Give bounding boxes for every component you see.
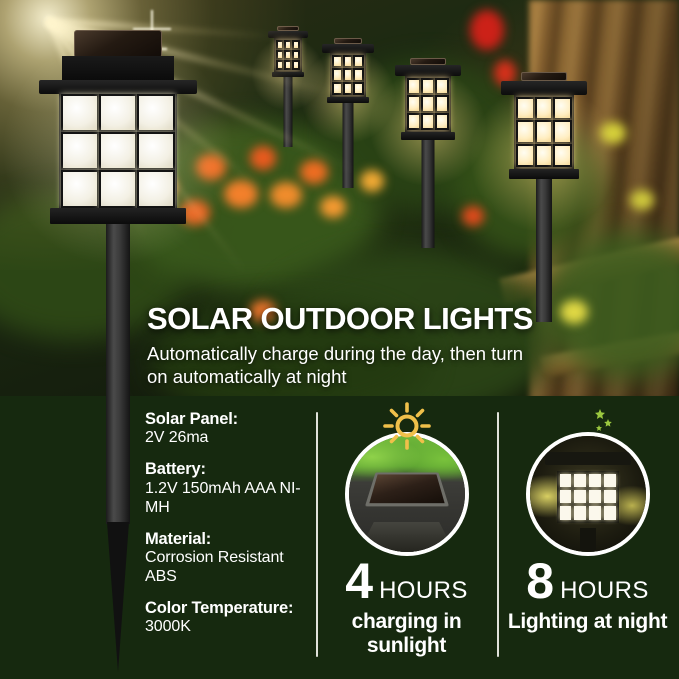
sun-icon bbox=[376, 400, 438, 457]
lantern-housing bbox=[274, 38, 302, 72]
light-pane bbox=[99, 132, 137, 170]
light-pane bbox=[589, 474, 601, 487]
specs-list: Solar Panel: 2V 26ma Battery: 1.2V 150mA… bbox=[145, 410, 310, 649]
light-pane bbox=[276, 40, 284, 50]
flower-blob bbox=[600, 122, 626, 144]
lantern-post bbox=[536, 179, 552, 322]
lantern-base bbox=[50, 208, 186, 224]
light-pane bbox=[604, 506, 616, 519]
light-pane bbox=[516, 144, 535, 167]
light-pane bbox=[343, 68, 354, 81]
light-pane bbox=[553, 97, 572, 120]
sun-icon-svg bbox=[376, 400, 438, 452]
light-pane bbox=[421, 113, 435, 130]
light-pane bbox=[137, 94, 175, 132]
headline-block: SOLAR OUTDOOR LIGHTS Automatically charg… bbox=[147, 303, 667, 389]
lighting-hours-unit: HOURS bbox=[560, 577, 649, 605]
light-pane bbox=[553, 144, 572, 167]
light-pane bbox=[574, 474, 586, 487]
light-pane bbox=[353, 68, 364, 81]
moon-stars-icon bbox=[557, 400, 619, 457]
lantern-housing bbox=[59, 92, 177, 210]
light-pane bbox=[435, 113, 449, 130]
lantern-eave bbox=[501, 81, 587, 95]
light-pane bbox=[421, 78, 435, 95]
lantern-base bbox=[509, 169, 579, 179]
light-pane bbox=[407, 78, 421, 95]
lantern-eave bbox=[322, 44, 374, 53]
flower-blob bbox=[270, 182, 302, 208]
flower-blob bbox=[250, 146, 276, 170]
flower-blob bbox=[320, 196, 346, 218]
lighting-description: Lighting at night bbox=[497, 610, 678, 634]
spec-label: Material: bbox=[145, 530, 310, 549]
light-pane bbox=[332, 55, 343, 68]
lantern-eave bbox=[395, 65, 461, 76]
stake-spike-tip bbox=[107, 522, 129, 672]
spec-item-battery: Battery: 1.2V 150mAh AAA NI-MH bbox=[145, 460, 310, 517]
light-pane bbox=[574, 490, 586, 503]
charging-hours-number: 4 bbox=[345, 559, 372, 604]
specification-panel: Solar Panel: 2V 26ma Battery: 1.2V 150mA… bbox=[0, 396, 679, 679]
flower-blob bbox=[470, 10, 504, 50]
light-pane bbox=[61, 170, 99, 208]
spec-item-color-temperature: Color Temperature: 3000K bbox=[145, 599, 310, 637]
light-pane bbox=[137, 132, 175, 170]
lantern-window-grid bbox=[557, 471, 619, 523]
solar-panel-cap bbox=[74, 30, 162, 58]
light-pane bbox=[560, 474, 572, 487]
light-pane bbox=[343, 82, 354, 95]
flower-blob bbox=[630, 190, 654, 210]
spec-value: 3000K bbox=[145, 618, 310, 637]
charging-description: charging in sunlight bbox=[316, 610, 497, 658]
light-pane bbox=[61, 94, 99, 132]
lantern-stem bbox=[580, 528, 596, 550]
light-pane bbox=[535, 120, 554, 143]
light-pane bbox=[61, 132, 99, 170]
light-pane bbox=[353, 55, 364, 68]
spec-label: Solar Panel: bbox=[145, 410, 310, 429]
light-pane bbox=[407, 95, 421, 112]
light-pane bbox=[137, 170, 175, 208]
solar-cell-top bbox=[364, 473, 448, 507]
light-pane bbox=[560, 506, 572, 519]
lantern-roof bbox=[62, 56, 174, 82]
spec-label: Battery: bbox=[145, 460, 310, 479]
lantern-base bbox=[401, 132, 455, 140]
light-pane bbox=[353, 82, 364, 95]
solar-panel-cap bbox=[521, 72, 567, 81]
light-pane bbox=[574, 506, 586, 519]
spec-item-material: Material: Corrosion Resistant ABS bbox=[145, 530, 310, 587]
light-pane bbox=[284, 60, 292, 70]
lighting-hours-number: 8 bbox=[526, 559, 553, 604]
light-pane bbox=[343, 55, 354, 68]
light-pane bbox=[435, 95, 449, 112]
lantern-background-1 bbox=[494, 72, 594, 322]
light-pane bbox=[292, 60, 300, 70]
light-pane bbox=[407, 113, 421, 130]
light-pane bbox=[284, 40, 292, 50]
page-subtitle: Automatically charge during the day, the… bbox=[147, 342, 543, 389]
light-pane bbox=[535, 144, 554, 167]
light-pane bbox=[604, 490, 616, 503]
light-pane bbox=[292, 40, 300, 50]
light-pane bbox=[99, 170, 137, 208]
lantern-background-2 bbox=[390, 58, 466, 248]
light-pane bbox=[535, 97, 554, 120]
lantern-housing bbox=[514, 95, 574, 169]
spec-label: Color Temperature: bbox=[145, 599, 310, 618]
moon-stars-icon-svg bbox=[557, 400, 619, 452]
solar-panel-cap bbox=[410, 58, 446, 65]
light-pane bbox=[516, 97, 535, 120]
light-pane bbox=[332, 68, 343, 81]
light-pane bbox=[421, 95, 435, 112]
spec-value: Corrosion Resistant ABS bbox=[145, 549, 310, 587]
light-pane bbox=[276, 50, 284, 60]
light-pane bbox=[292, 50, 300, 60]
spec-value: 2V 26ma bbox=[145, 429, 310, 448]
lantern-post bbox=[343, 103, 354, 188]
light-pane bbox=[435, 78, 449, 95]
lantern-housing bbox=[405, 76, 451, 132]
spec-value: 1.2V 150mAh AAA NI-MH bbox=[145, 480, 310, 518]
light-pane bbox=[99, 94, 137, 132]
light-pane bbox=[276, 60, 284, 70]
light-pane bbox=[560, 490, 572, 503]
lantern-post bbox=[422, 140, 435, 248]
light-pane bbox=[589, 506, 601, 519]
lantern-roof-body bbox=[359, 522, 455, 552]
light-pane bbox=[284, 50, 292, 60]
light-pane bbox=[589, 490, 601, 503]
light-pane bbox=[516, 120, 535, 143]
page-title: SOLAR OUTDOOR LIGHTS bbox=[147, 303, 667, 334]
charging-hours-line: 4 HOURS bbox=[316, 559, 497, 605]
lantern-ground-stake bbox=[106, 224, 130, 524]
spec-item-solar-panel: Solar Panel: 2V 26ma bbox=[145, 410, 310, 448]
lighting-hours-line: 8 HOURS bbox=[497, 559, 678, 605]
charging-hours-unit: HOURS bbox=[379, 577, 468, 605]
product-marketing-image: SOLAR OUTDOOR LIGHTS Automatically charg… bbox=[0, 0, 679, 679]
light-pane bbox=[553, 120, 572, 143]
light-pane bbox=[604, 474, 616, 487]
